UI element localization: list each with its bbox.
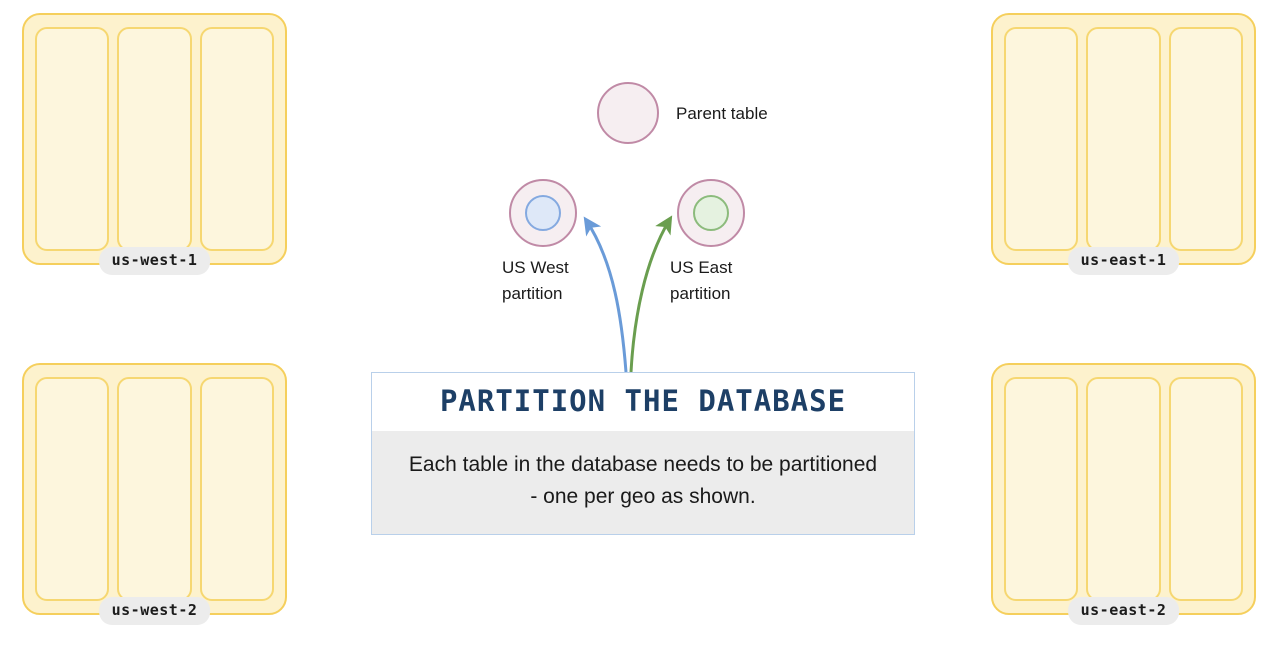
region-label-us-west-1: us-west-1 bbox=[99, 247, 211, 275]
region-label-us-west-2: us-west-2 bbox=[99, 597, 211, 625]
region-rail bbox=[1004, 27, 1078, 251]
arrow-to-us-west-partition bbox=[586, 220, 626, 372]
node-us-east-partition-label: US East partition bbox=[670, 255, 732, 306]
node-us-west-partition[interactable] bbox=[509, 179, 577, 247]
region-rail bbox=[117, 27, 191, 251]
diagram-canvas: us-west-1 us-east-1 us-west-2 us-east-2 bbox=[0, 0, 1280, 648]
region-rail bbox=[1086, 377, 1160, 601]
region-rail bbox=[35, 377, 109, 601]
region-rail bbox=[200, 27, 274, 251]
region-label-us-east-1: us-east-1 bbox=[1068, 247, 1180, 275]
region-rail bbox=[1169, 377, 1243, 601]
region-rail bbox=[1004, 377, 1078, 601]
arrow-to-us-east-partition bbox=[631, 219, 670, 372]
region-rail bbox=[200, 377, 274, 601]
callout-box: PARTITION THE DATABASE Each table in the… bbox=[371, 372, 915, 535]
callout-body: Each table in the database needs to be p… bbox=[372, 431, 914, 534]
node-us-west-partition-label: US West partition bbox=[502, 255, 569, 306]
region-label-us-east-2: us-east-2 bbox=[1068, 597, 1180, 625]
region-box-us-west-1[interactable]: us-west-1 bbox=[22, 13, 287, 265]
node-parent-table[interactable] bbox=[597, 82, 659, 144]
callout-header: PARTITION THE DATABASE bbox=[372, 373, 914, 431]
region-box-us-east-1[interactable]: us-east-1 bbox=[991, 13, 1256, 265]
node-us-east-partition[interactable] bbox=[677, 179, 745, 247]
region-rail bbox=[1169, 27, 1243, 251]
region-box-us-east-2[interactable]: us-east-2 bbox=[991, 363, 1256, 615]
node-parent-table-label: Parent table bbox=[676, 101, 768, 127]
region-rail bbox=[35, 27, 109, 251]
region-rail bbox=[1086, 27, 1160, 251]
callout-title: PARTITION THE DATABASE bbox=[382, 384, 904, 418]
region-rail bbox=[117, 377, 191, 601]
callout-body-text: Each table in the database needs to be p… bbox=[406, 449, 880, 512]
node-us-west-partition-core bbox=[525, 195, 561, 231]
node-us-east-partition-core bbox=[693, 195, 729, 231]
region-box-us-west-2[interactable]: us-west-2 bbox=[22, 363, 287, 615]
